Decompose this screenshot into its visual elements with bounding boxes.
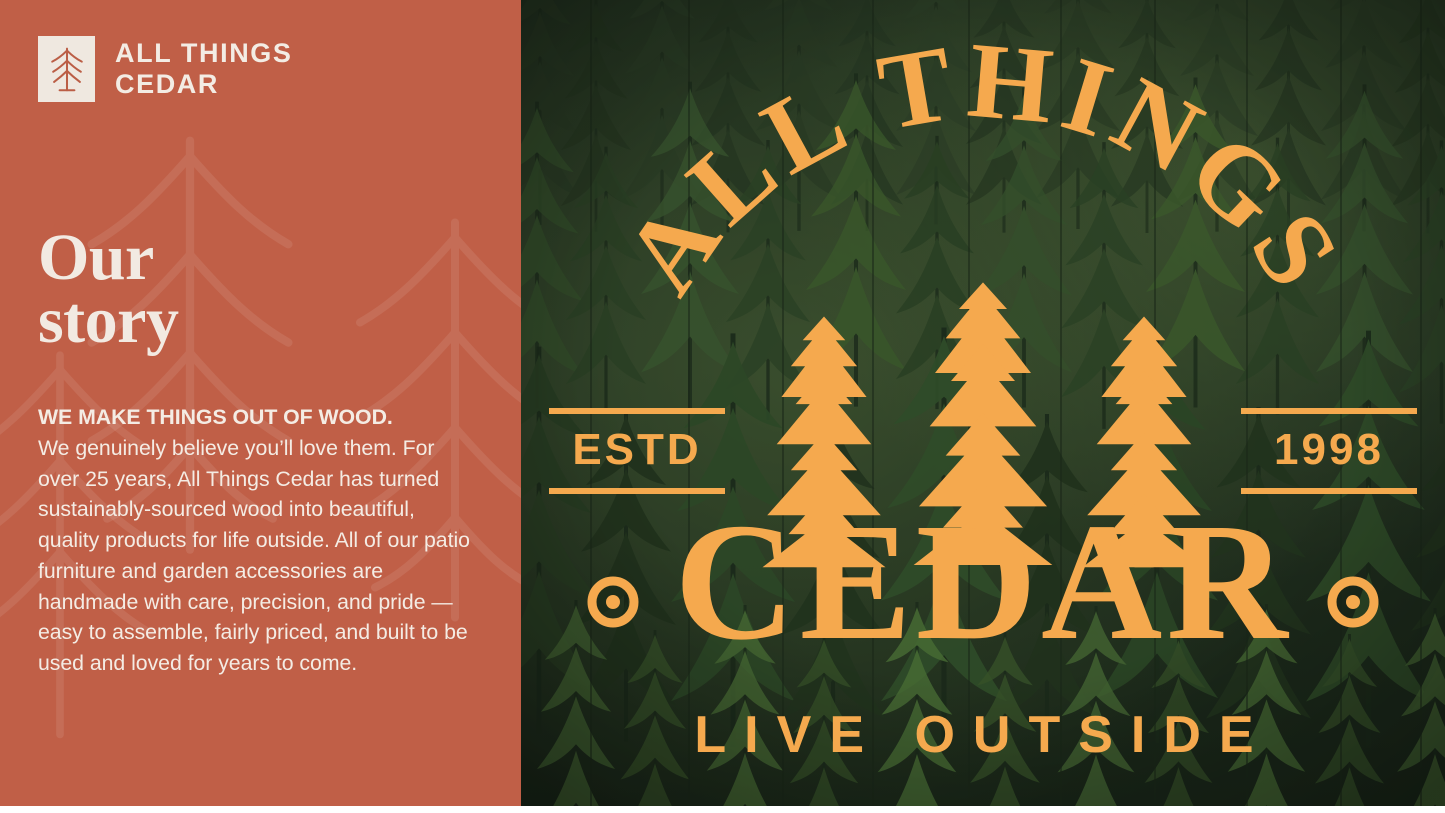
estd-block: ESTD xyxy=(549,408,725,494)
badge-arc-text: ALL THINGS xyxy=(602,21,1366,314)
logo-mark xyxy=(38,36,95,102)
page-title: Our story xyxy=(38,226,178,353)
story-lede: WE MAKE THINGS OUT OF WOOD. xyxy=(38,402,476,433)
brand-wordmark: ALL THINGS CEDAR xyxy=(115,38,293,101)
story-body: WE MAKE THINGS OUT OF WOOD. We genuinely… xyxy=(38,402,476,679)
ring-dot-icon xyxy=(1332,581,1374,623)
story-panel: ALL THINGS CEDAR Our story WE MAKE THING… xyxy=(0,0,521,806)
year-block: 1998 xyxy=(1241,408,1417,494)
badge-name: CEDAR xyxy=(674,489,1291,675)
ring-dot-icon xyxy=(592,581,634,623)
estd-year: 1998 xyxy=(1274,425,1384,474)
cedar-badge-emblem: ALL THINGS ESTD xyxy=(521,0,1445,806)
about-page: ALL THINGS CEDAR Our story WE MAKE THING… xyxy=(0,0,1445,813)
badge-tagline: LIVE OUTSIDE xyxy=(694,706,1271,764)
brand-lockup[interactable]: ALL THINGS CEDAR xyxy=(38,36,293,102)
story-paragraph: We genuinely believe you’ll love them. F… xyxy=(38,433,476,679)
forest-photo-panel: ALL THINGS ESTD xyxy=(521,0,1445,806)
cedar-tree-icon xyxy=(48,45,86,93)
estd-label: ESTD xyxy=(572,425,701,474)
